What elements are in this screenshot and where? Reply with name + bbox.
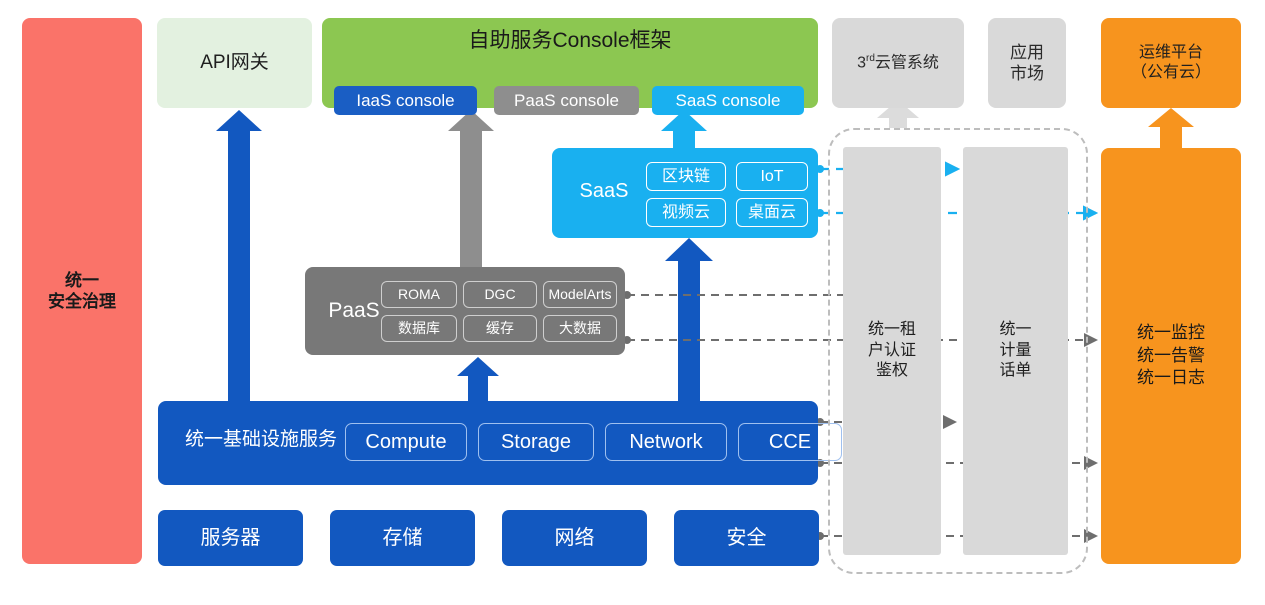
paas-layer-panel: PaaS ROMA DGC ModelArts 数据库 缓存 大数据 <box>305 267 625 355</box>
saas-console-chip[interactable]: SaaS console <box>652 86 804 115</box>
paas-console-label: PaaS console <box>514 90 619 111</box>
app-market-box: 应用 市场 <box>988 18 1066 108</box>
saas-chip-blockchain[interactable]: 区块链 <box>646 162 726 191</box>
hardware-box-security: 安全 <box>674 510 819 566</box>
console-framework-title: 自助服务Console框架 <box>322 28 818 54</box>
hardware-box-server-label: 服务器 <box>201 526 261 551</box>
paas-console-chip[interactable]: PaaS console <box>494 86 639 115</box>
hardware-box-storage: 存储 <box>330 510 475 566</box>
paas-chip-cache[interactable]: 缓存 <box>463 315 537 342</box>
hardware-box-storage-label: 存储 <box>383 526 423 551</box>
third-party-superscript: rd <box>866 53 875 64</box>
security-governance-label: 统一 安全治理 <box>48 270 116 313</box>
paas-chip-roma-label: ROMA <box>398 286 440 304</box>
arrow-infra-to-saas <box>665 238 713 401</box>
hardware-box-server: 服务器 <box>158 510 303 566</box>
paas-chip-modelarts-label: ModelArts <box>548 286 611 304</box>
infra-chip-network-label: Network <box>629 430 702 455</box>
saas-chip-desktop-cloud[interactable]: 桌面云 <box>736 198 808 227</box>
band-unified-metering-billing-label: 统一 计量 话单 <box>999 320 1031 382</box>
saas-chip-desktop-cloud-label: 桌面云 <box>748 203 796 223</box>
band-unified-tenant-auth: 统一租 户认证 鉴权 <box>843 147 941 555</box>
arrow-infra-to-api-gateway <box>216 110 262 401</box>
paas-chip-dgc-label: DGC <box>484 286 515 304</box>
unified-monitoring-panel: 统一监控 统一告警 统一日志 <box>1101 148 1241 564</box>
paas-chip-roma[interactable]: ROMA <box>381 281 457 308</box>
paas-chip-bigdata-label: 大数据 <box>559 320 601 338</box>
saas-chip-video-cloud-label: 视频云 <box>662 203 710 223</box>
infra-chip-compute[interactable]: Compute <box>345 423 467 461</box>
iaas-console-label: IaaS console <box>356 90 454 111</box>
arrow-ops-center-to-ops-platform <box>1148 108 1194 148</box>
architecture-diagram: 统一 安全治理 API网关 自助服务Console框架 IaaS console… <box>0 0 1265 605</box>
api-gateway-box: API网关 <box>157 18 312 108</box>
paas-chip-cache-label: 缓存 <box>486 320 514 338</box>
hardware-box-security-label: 安全 <box>727 526 767 551</box>
infra-chip-network[interactable]: Network <box>605 423 727 461</box>
paas-chip-dgc[interactable]: DGC <box>463 281 537 308</box>
saas-chip-iot-label: IoT <box>760 167 783 187</box>
paas-chip-modelarts[interactable]: ModelArts <box>543 281 617 308</box>
security-governance-panel: 统一 安全治理 <box>22 18 142 564</box>
saas-layer-label: SaaS <box>566 179 642 204</box>
arrow-saas-to-console <box>661 110 707 148</box>
infra-chip-storage[interactable]: Storage <box>478 423 594 461</box>
infra-chip-storage-label: Storage <box>501 430 571 455</box>
saas-chip-iot[interactable]: IoT <box>736 162 808 191</box>
infra-chip-cce[interactable]: CCE <box>738 423 842 461</box>
saas-layer-panel: SaaS 区块链 IoT 视频云 桌面云 <box>552 148 818 238</box>
paas-chip-database-label: 数据库 <box>398 320 440 338</box>
infra-chip-cce-label: CCE <box>769 430 811 455</box>
ops-platform-label: 运维平台 （公有云） <box>1131 43 1211 83</box>
saas-chip-blockchain-label: 区块链 <box>662 167 710 187</box>
saas-chip-video-cloud[interactable]: 视频云 <box>646 198 726 227</box>
band-unified-metering-billing: 统一 计量 话单 <box>963 147 1068 555</box>
ops-platform-box: 运维平台 （公有云） <box>1101 18 1241 108</box>
unified-infrastructure-panel: 统一基础设施服务 Compute Storage Network CCE <box>158 401 818 485</box>
paas-chip-database[interactable]: 数据库 <box>381 315 457 342</box>
hardware-box-network-label: 网络 <box>555 526 595 551</box>
paas-chip-bigdata[interactable]: 大数据 <box>543 315 617 342</box>
infra-chip-compute-label: Compute <box>365 430 446 455</box>
arrow-infra-to-paas <box>457 357 499 401</box>
band-unified-tenant-auth-label: 统一租 户认证 鉴权 <box>868 320 916 382</box>
api-gateway-label: API网关 <box>200 51 269 75</box>
third-party-cloud-mgmt-label: 3rd云管系统 <box>857 53 939 73</box>
third-party-cloud-mgmt-box: 3rd云管系统 <box>832 18 964 108</box>
unified-infrastructure-label: 统一基础设施服务 <box>172 428 350 452</box>
arrow-paas-to-console <box>448 110 494 267</box>
app-market-label: 应用 市场 <box>1010 42 1044 85</box>
hardware-box-network: 网络 <box>502 510 647 566</box>
console-framework-panel: 自助服务Console框架 IaaS console PaaS console … <box>322 18 818 108</box>
saas-console-label: SaaS console <box>676 90 781 111</box>
unified-monitoring-label: 统一监控 统一告警 统一日志 <box>1137 322 1205 391</box>
iaas-console-chip[interactable]: IaaS console <box>334 86 477 115</box>
